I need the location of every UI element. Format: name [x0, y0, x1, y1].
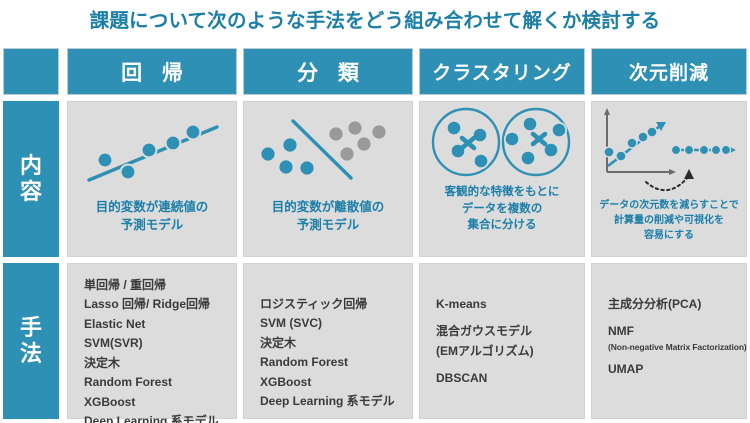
list-item: Random Forest [84, 373, 236, 392]
caption-line: 計算量の削減や可視化を [599, 213, 739, 228]
list-item: UMAP [608, 360, 746, 379]
methods-list-dimensionality-reduction: 主成分分析(PCA) NMF (Non-negative Matrix Fact… [608, 295, 746, 380]
content-caption-regression: 目的変数が連続値の 予測モデル [96, 198, 209, 234]
caption-line: 予測モデル [96, 216, 209, 234]
list-item: XGBoost [84, 393, 236, 412]
methods-list-regression: 単回帰 / 重回帰 Lasso 回帰/ Ridge回帰 Elastic Net … [84, 276, 236, 423]
caption-line: 目的変数が連続値の [96, 198, 209, 216]
list-item: SVM (SVC) [260, 314, 412, 333]
content-cell-classification: 目的変数が離散値の 予測モデル [243, 101, 413, 257]
content-caption-dimensionality-reduction: データの次元数を減らすことで 計算量の削減や可視化を 容易にする [599, 198, 739, 243]
header-label-clustering: クラスタリング [432, 58, 572, 85]
header-label-dimensionality-reduction: 次元削減 [629, 58, 709, 85]
two-clusters-with-centroids-icon [424, 104, 580, 182]
list-item: 混合ガウスモデル [436, 322, 584, 341]
content-cell-dimensionality-reduction: データの次元数を減らすことで 計算量の削減や可視化を 容易にする [591, 101, 747, 257]
list-item-sublabel: (Non-negative Matrix Factorization) [608, 342, 746, 352]
page-title: 課題について次のような手法をどう組み合わせて解くか検討する [0, 4, 750, 33]
list-item: Elastic Net [84, 315, 236, 334]
list-item: SVM(SVR) [84, 334, 236, 353]
caption-line: データの次元数を減らすことで [599, 198, 739, 213]
list-item: DBSCAN [436, 369, 584, 388]
list-item: Lasso 回帰/ Ridge回帰 [84, 295, 236, 314]
caption-line: 客観的な特徴をもとに [445, 184, 560, 201]
list-item: XGBoost [260, 373, 412, 392]
list-spacer [436, 361, 584, 369]
caption-line: 予測モデル [272, 216, 385, 234]
content-cell-regression: 目的変数が連続値の 予測モデル [67, 101, 237, 257]
caption-line: 目的変数が離散値の [272, 198, 385, 216]
methods-list-clustering: K-means 混合ガウスモデル (EMアルゴリズム) DBSCAN [436, 295, 584, 389]
header-cell-clustering[interactable]: クラスタリング [419, 48, 585, 95]
list-item-label: NMF [608, 324, 634, 338]
list-item: 決定木 [84, 354, 236, 373]
list-item: Deep Learning 系モデル [84, 412, 236, 423]
list-item: K-means [436, 295, 584, 314]
methods-cell-classification: ロジスティック回帰 SVM (SVC) 決定木 Random Forest XG… [243, 263, 413, 419]
list-item: Deep Learning 系モデル [260, 392, 412, 411]
row-label-content-char-2: 容 [20, 179, 42, 205]
header-cell-classification[interactable]: 分 類 [243, 48, 413, 95]
header-cell-regression[interactable]: 回 帰 [67, 48, 237, 95]
row-label-content: 内 容 [3, 101, 59, 257]
methods-list-classification: ロジスティック回帰 SVM (SVC) 決定木 Random Forest XG… [260, 295, 412, 412]
content-caption-classification: 目的変数が離散値の 予測モデル [272, 198, 385, 234]
row-label-methods-char-1: 手 [20, 315, 42, 341]
list-item: ロジスティック回帰 [260, 295, 412, 314]
scatter-with-trendline-icon [77, 110, 227, 190]
list-item: NMF (Non-negative Matrix Factorization) [608, 322, 746, 352]
caption-line: データを複数の [445, 201, 560, 218]
list-item: 主成分分析(PCA) [608, 295, 746, 314]
header-label-classification: 分 類 [297, 57, 366, 87]
list-spacer [608, 352, 746, 360]
list-item: (EMアルゴリズム) [436, 342, 584, 361]
2d-to-1d-projection-icon [594, 104, 744, 196]
row-label-methods: 手 法 [3, 263, 59, 419]
methods-cell-clustering: K-means 混合ガウスモデル (EMアルゴリズム) DBSCAN [419, 263, 585, 419]
row-label-content-char-1: 内 [20, 153, 42, 179]
header-label-regression: 回 帰 [121, 57, 190, 87]
row-label-methods-char-2: 法 [20, 341, 42, 367]
slide-root: 課題について次のような手法をどう組み合わせて解くか検討する 回 帰 分 類 クラ… [0, 0, 750, 423]
header-cell-dimensionality-reduction[interactable]: 次元削減 [591, 48, 747, 95]
list-spacer [608, 314, 746, 322]
list-item: 決定木 [260, 334, 412, 353]
list-item: 単回帰 / 重回帰 [84, 276, 236, 295]
list-spacer [436, 314, 584, 322]
two-class-separating-line-icon [251, 108, 406, 192]
methods-cell-regression: 単回帰 / 重回帰 Lasso 回帰/ Ridge回帰 Elastic Net … [67, 263, 237, 419]
content-cell-clustering: 客観的な特徴をもとに データを複数の 集合に分ける [419, 101, 585, 257]
caption-line: 容易にする [599, 228, 739, 243]
list-item: Random Forest [260, 353, 412, 372]
header-corner-cell [3, 48, 59, 95]
methods-cell-dimensionality-reduction: 主成分分析(PCA) NMF (Non-negative Matrix Fact… [591, 263, 747, 419]
content-caption-clustering: 客観的な特徴をもとに データを複数の 集合に分ける [445, 184, 560, 234]
caption-line: 集合に分ける [445, 217, 560, 234]
